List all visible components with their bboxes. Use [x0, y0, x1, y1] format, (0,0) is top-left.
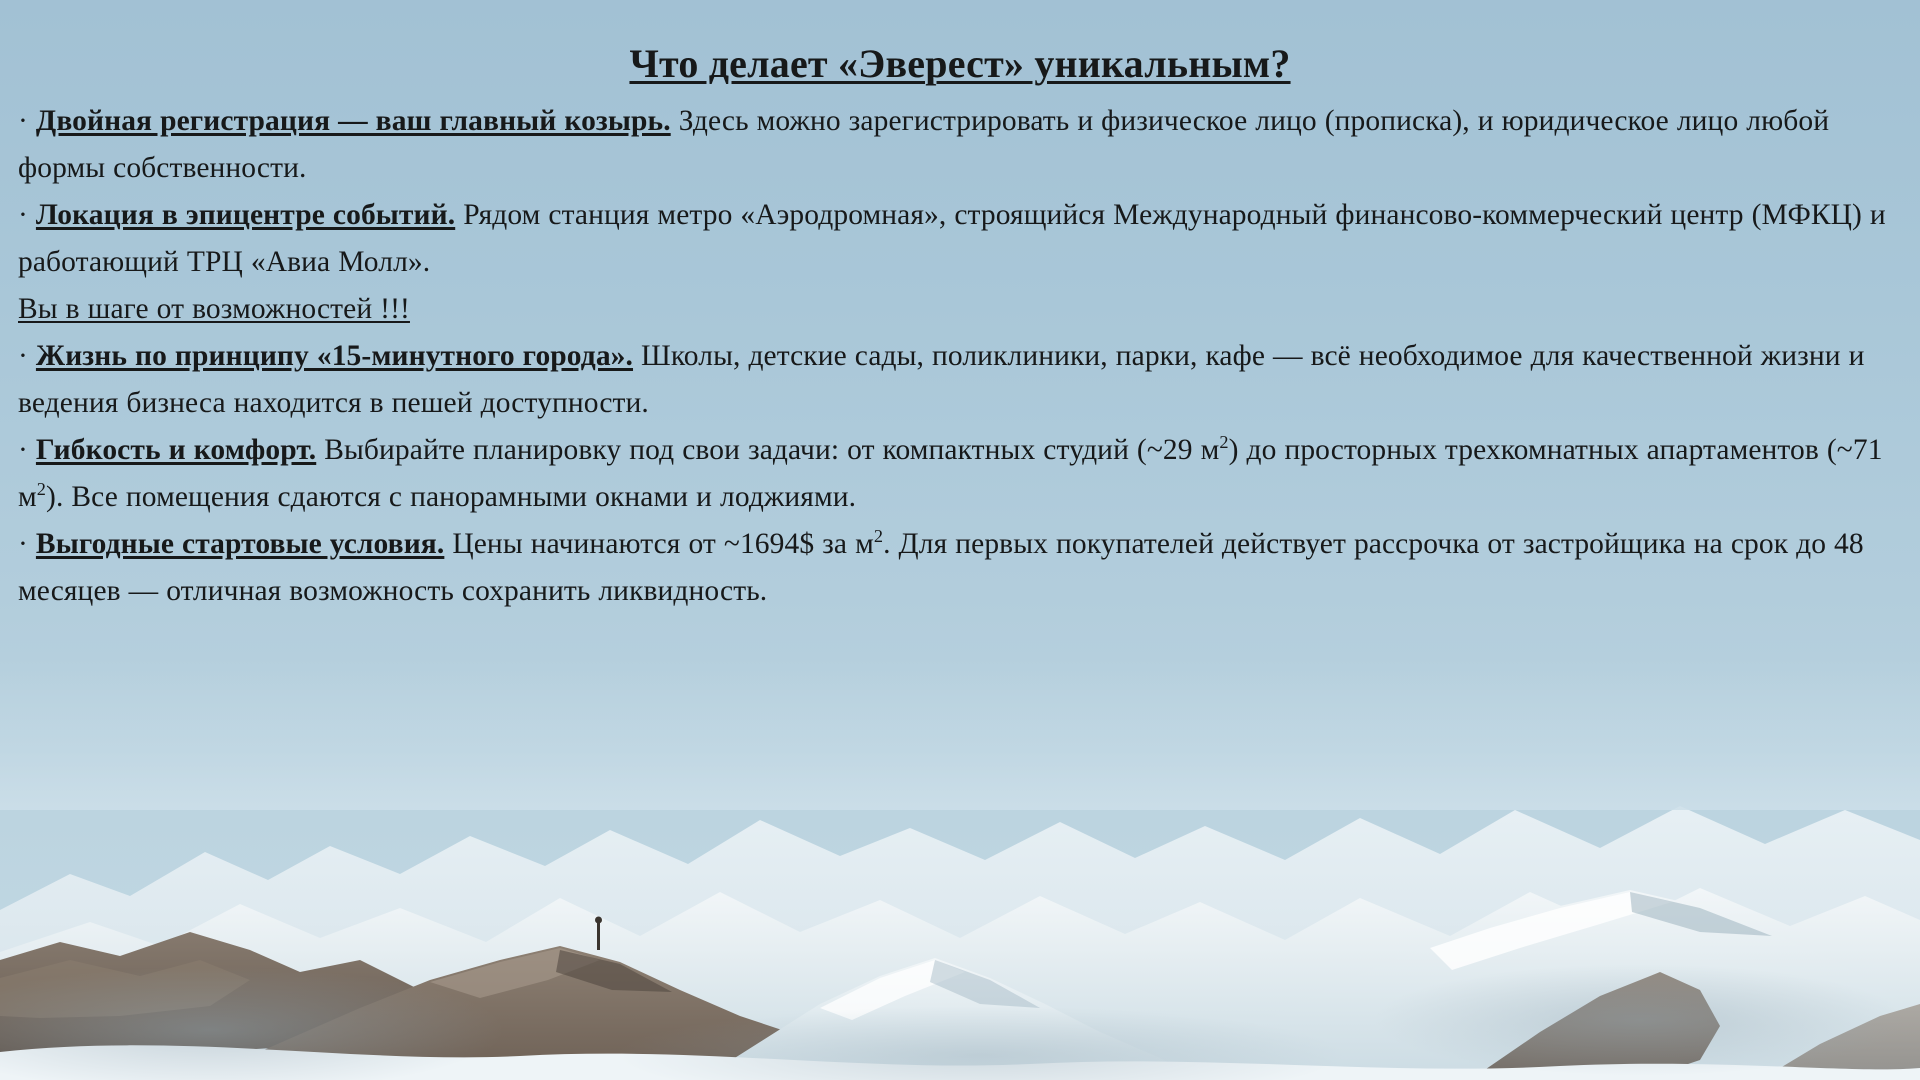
- bullet-lead-dual-registration: Двойная регистрация — ваш главный козырь…: [36, 105, 671, 137]
- superscript-square-three-room: 2: [37, 479, 46, 499]
- opportunity-note-text: Вы в шаге от возможностей !!!: [18, 293, 410, 325]
- bullet-flexibility-comfort: · Гибкость и комфорт. Выбирайте планиров…: [18, 427, 1902, 521]
- bullet-starting-conditions: · Выгодные стартовые условия. Цены начин…: [18, 521, 1902, 615]
- bullet-dual-registration: · Двойная регистрация — ваш главный козы…: [18, 98, 1902, 192]
- bullet-body-starting-pre: Цены начинаются от ~1694$ за м: [452, 528, 874, 560]
- snow-shadows: [0, 870, 1920, 1080]
- slide-title-text: Что делает «Эверест» уникальным?: [629, 41, 1290, 86]
- bullet-lead-starting-conditions: Выгодные стартовые условия.: [36, 528, 444, 560]
- mountain-photo: [0, 660, 1920, 1080]
- bullet-marker: ·: [18, 434, 28, 466]
- bullet-marker: ·: [18, 105, 28, 137]
- atmospheric-haze: [0, 660, 1920, 810]
- bullet-body-flexibility-pre: Выбирайте планировку под свои задачи: от…: [324, 434, 1219, 466]
- bullet-marker: ·: [18, 199, 28, 231]
- bullet-lead-fifteen-minute-city: Жизнь по принципу «15-минутного города».: [36, 340, 633, 372]
- superscript-square-price: 2: [874, 526, 883, 546]
- bullet-lead-location: Локация в эпицентре событий.: [36, 199, 455, 231]
- bullet-marker: ·: [18, 528, 28, 560]
- slide-text-content: Что делает «Эверест» уникальным? · Двойн…: [0, 0, 1920, 615]
- presentation-slide: Что делает «Эверест» уникальным? · Двойн…: [0, 0, 1920, 1080]
- bullet-fifteen-minute-city: · Жизнь по принципу «15-минутного города…: [18, 333, 1902, 427]
- bullet-lead-flexibility-comfort: Гибкость и комфорт.: [36, 434, 316, 466]
- bullet-marker: ·: [18, 340, 28, 372]
- opportunity-note: Вы в шаге от возможностей !!!: [18, 286, 1902, 333]
- slide-title: Что делает «Эверест» уникальным?: [18, 44, 1902, 84]
- bullet-body-flexibility-post: ). Все помещения сдаются с панорамными о…: [46, 481, 856, 513]
- superscript-square-studio: 2: [1219, 432, 1228, 452]
- bullet-location: · Локация в эпицентре событий. Рядом ста…: [18, 192, 1902, 286]
